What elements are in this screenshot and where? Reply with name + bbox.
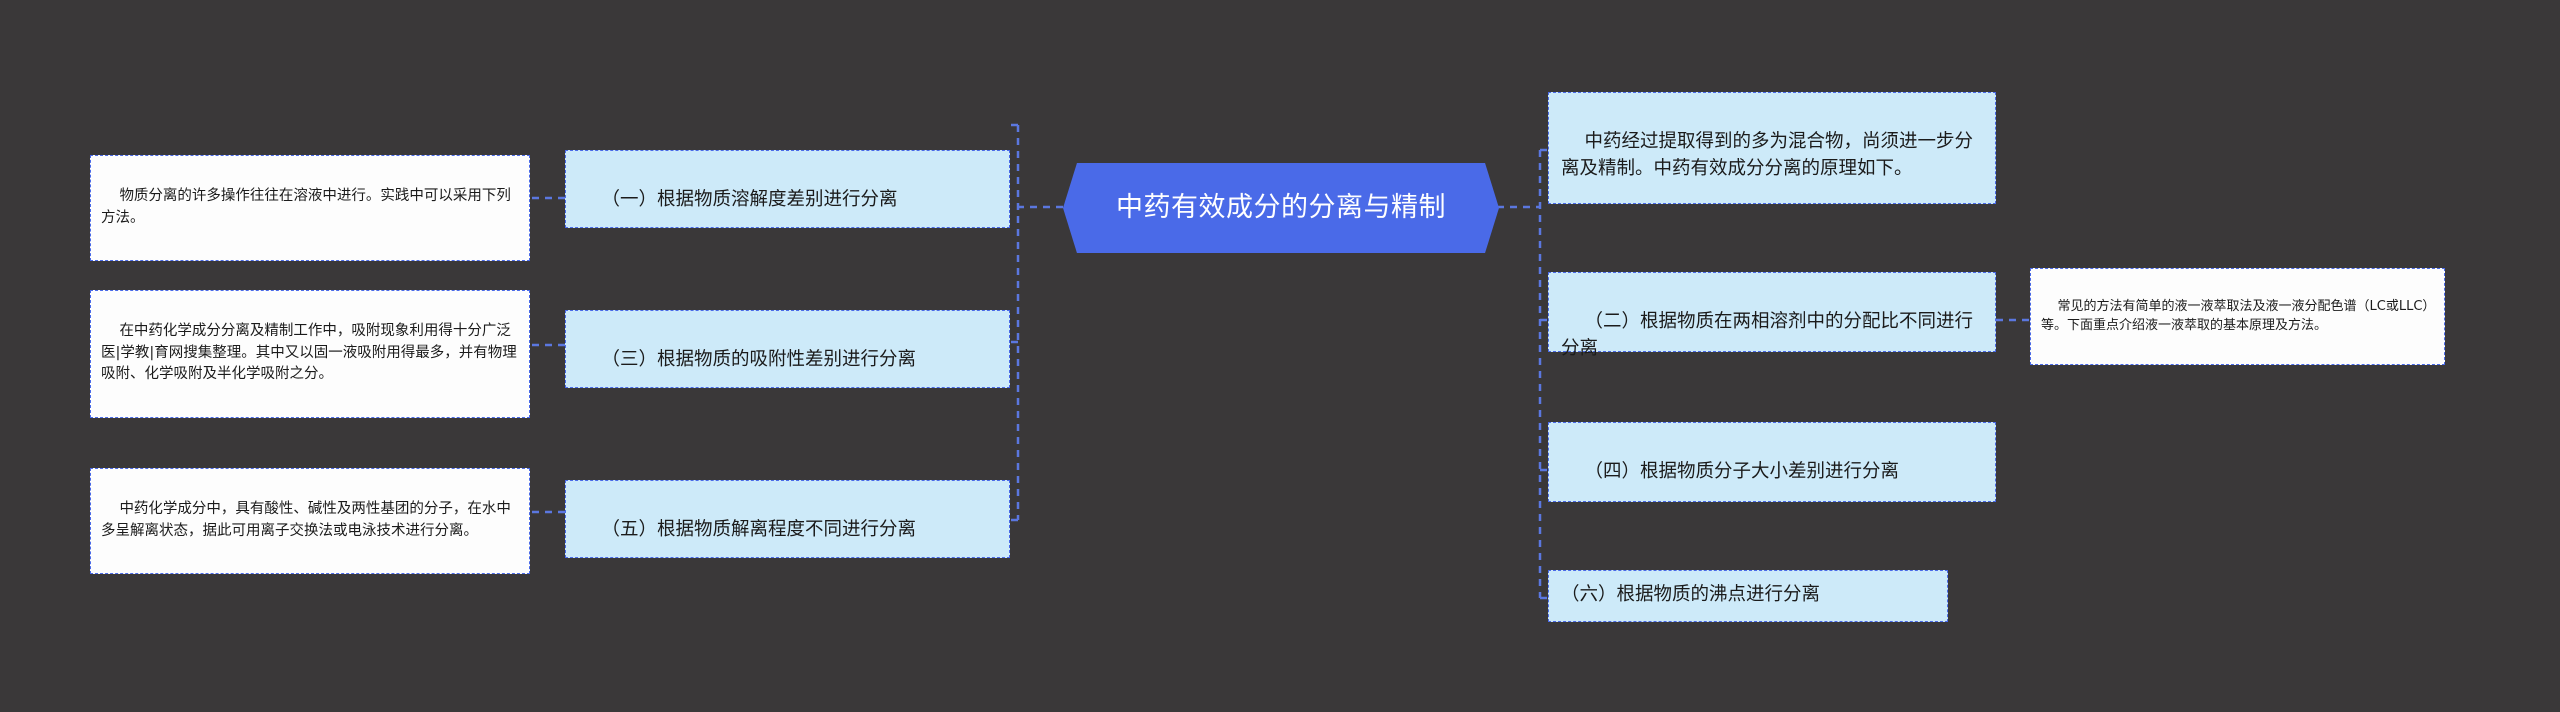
left-topic-box-2[interactable]: （三）根据物质的吸附性差别进行分离 — [565, 310, 1010, 388]
left-topic-box-1[interactable]: （一）根据物质溶解度差别进行分离 — [565, 150, 1010, 228]
left-detail-label-2: 在中药化学成分分离及精制工作中，吸附现象利用得十分广泛医|学教|育网搜集整理。其… — [101, 323, 517, 383]
right-topic-label-6: （六）根据物质的沸点进行分离 — [1561, 582, 1820, 609]
right-topic-box-4[interactable]: （四）根据物质分子大小差别进行分离 — [1548, 422, 1996, 502]
left-detail-box-1[interactable]: 物质分离的许多操作往往在溶液中进行。实践中可以采用下列方法。 — [90, 155, 530, 261]
right-intro-label: 中药经过提取得到的多为混合物，尚须进一步分离及精制。中药有效成分分离的原理如下。 — [1561, 131, 1973, 179]
left-topic-label-1: （一）根据物质溶解度差别进行分离 — [602, 189, 898, 210]
mindmap-canvas: 中药有效成分的分离与精制 物质分离的许多操作往往在溶液中进行。实践中可以采用下列… — [0, 0, 2560, 712]
left-detail-label-1: 物质分离的许多操作往往在溶液中进行。实践中可以采用下列方法。 — [101, 188, 511, 226]
right-intro-box[interactable]: 中药经过提取得到的多为混合物，尚须进一步分离及精制。中药有效成分分离的原理如下。 — [1548, 92, 1996, 204]
right-topic-label-4: （四）根据物质分子大小差别进行分离 — [1585, 461, 1900, 482]
right-detail-box-1[interactable]: 常见的方法有简单的液一液萃取法及液一液分配色谱（LC或LLC）等。下面重点介绍液… — [2030, 268, 2445, 365]
left-detail-label-3: 中药化学成分中，具有酸性、碱性及两性基团的分子，在水中多呈解离状态，据此可用离子… — [101, 501, 511, 539]
left-detail-box-3[interactable]: 中药化学成分中，具有酸性、碱性及两性基团的分子，在水中多呈解离状态，据此可用离子… — [90, 468, 530, 574]
left-detail-box-2[interactable]: 在中药化学成分分离及精制工作中，吸附现象利用得十分广泛医|学教|育网搜集整理。其… — [90, 290, 530, 418]
right-topic-box-6[interactable]: （六）根据物质的沸点进行分离 — [1548, 570, 1948, 622]
left-topic-box-3[interactable]: （五）根据物质解离程度不同进行分离 — [565, 480, 1010, 558]
right-topic-box-2[interactable]: （二）根据物质在两相溶剂中的分配比不同进行分离 — [1548, 272, 1996, 352]
right-detail-label-1: 常见的方法有简单的液一液萃取法及液一液分配色谱（LC或LLC）等。下面重点介绍液… — [2041, 299, 2429, 334]
root-node-label: 中药有效成分的分离与精制 — [1116, 188, 1446, 227]
left-topic-label-2: （三）根据物质的吸附性差别进行分离 — [602, 349, 917, 370]
root-node[interactable]: 中药有效成分的分离与精制 — [1063, 163, 1499, 253]
left-topic-label-3: （五）根据物质解离程度不同进行分离 — [602, 519, 917, 540]
right-topic-label-2: （二）根据物质在两相溶剂中的分配比不同进行分离 — [1561, 311, 1973, 359]
